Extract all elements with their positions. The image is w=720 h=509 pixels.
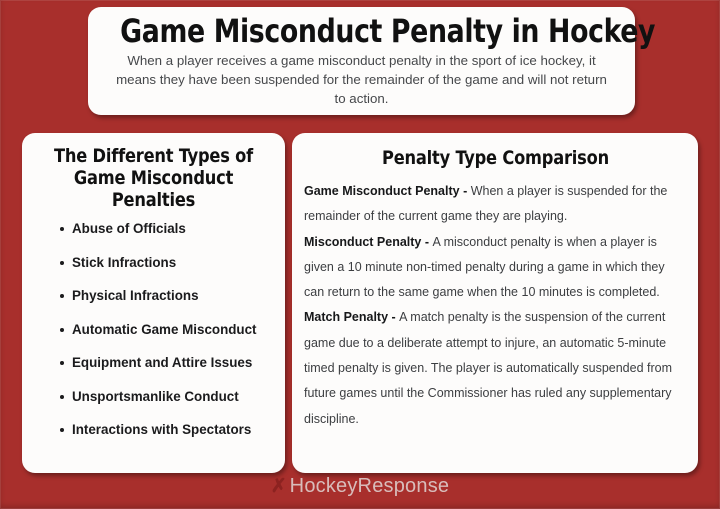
watermark: ✗ HockeyResponse [0,471,720,501]
comparison-entry: Misconduct Penalty - A misconduct penalt… [304,230,688,306]
types-list: Abuse of Officials Stick Infractions Phy… [32,221,275,438]
watermark-text: HockeyResponse [290,476,450,496]
comparison-entry: Match Penalty - A match penalty is the s… [304,305,688,431]
types-panel-heading-line2: Game Misconduct Penalties [38,167,269,211]
comparison-entry: Game Misconduct Penalty - When a player … [304,179,688,230]
list-item: Equipment and Attire Issues [60,355,275,371]
comparison-panel-heading: Penalty Type Comparison [311,145,681,169]
types-panel-heading-line1: The Different Types of [38,145,269,167]
list-item: Abuse of Officials [60,221,275,237]
list-item: Stick Infractions [60,255,275,271]
list-item: Physical Infractions [60,288,275,304]
header-card: Game Misconduct Penalty in Hockey When a… [88,7,635,115]
infographic-poster: Game Misconduct Penalty in Hockey When a… [0,0,720,509]
comparison-entry-term: Misconduct Penalty - [304,235,433,249]
comparison-entry-description: A match penalty is the suspension of the… [304,310,672,425]
page-title: Game Misconduct Penalty in Hockey [120,13,603,49]
list-item: Interactions with Spectators [60,422,275,438]
brand-x-icon: ✗ [271,477,287,496]
comparison-body: Game Misconduct Penalty - When a player … [301,179,690,432]
page-subtitle: When a player receives a game misconduct… [102,51,621,108]
comparison-entry-term: Game Misconduct Penalty - [304,184,471,198]
list-item: Unsportsmanlike Conduct [60,389,275,405]
types-panel: The Different Types of Game Misconduct P… [22,133,285,473]
list-item: Automatic Game Misconduct [60,322,275,338]
types-panel-heading: The Different Types of Game Misconduct P… [38,145,269,211]
comparison-panel: Penalty Type Comparison Game Misconduct … [292,133,698,473]
comparison-entry-term: Match Penalty - [304,310,399,324]
